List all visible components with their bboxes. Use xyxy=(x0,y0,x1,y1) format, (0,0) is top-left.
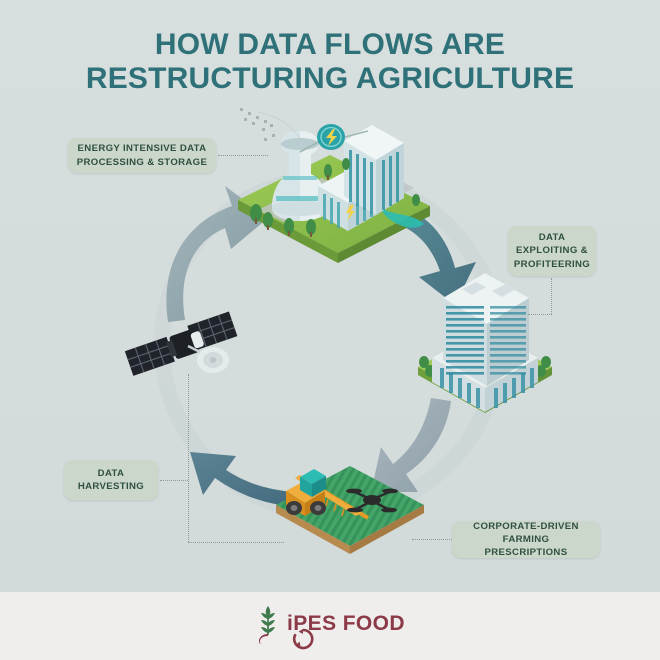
label-exploiting-line-3: PROFITEERING xyxy=(514,258,590,271)
wheat-icon xyxy=(255,604,281,644)
label-corporate-line-1: CORPORATE-DRIVEN xyxy=(460,520,592,533)
label-data-harvesting[interactable]: DATA HARVESTING xyxy=(64,460,158,500)
label-data-exploiting[interactable]: DATA EXPLOITING & PROFITEERING xyxy=(508,226,596,276)
recycle-circle-icon xyxy=(292,628,314,650)
label-exploiting-line-1: DATA xyxy=(514,231,590,244)
connector-exploiting xyxy=(551,278,552,314)
connector-corporate xyxy=(412,539,452,540)
connector-energy xyxy=(218,155,268,156)
connector-harvesting-v xyxy=(188,374,189,542)
recycle-arrow-icon xyxy=(259,634,268,644)
connector-exploiting-h xyxy=(528,314,552,315)
connector-harvesting-bottom xyxy=(188,542,284,543)
title-line-2: RESTRUCTURING AGRICULTURE xyxy=(0,62,660,96)
label-energy-line-1: ENERGY INTENSIVE DATA xyxy=(77,142,208,155)
connector-harvesting-h xyxy=(160,480,188,481)
label-energy-line-2: PROCESSING & STORAGE xyxy=(77,156,208,169)
page-title: HOW DATA FLOWS ARE RESTRUCTURING AGRICUL… xyxy=(0,28,660,95)
label-corporate-line-2: FARMING PRESCRIPTIONS xyxy=(460,533,592,559)
label-harvesting-line-1: DATA xyxy=(78,467,144,480)
title-line-1: HOW DATA FLOWS ARE xyxy=(155,28,505,61)
ipes-food-logo-mark xyxy=(255,604,281,644)
label-harvesting-line-2: HARVESTING xyxy=(78,480,144,493)
infographic-root: HOW DATA FLOWS ARE RESTRUCTURING AGRICUL… xyxy=(0,0,660,660)
label-exploiting-line-2: EXPLOITING & xyxy=(514,244,590,257)
label-energy-intensive-data[interactable]: ENERGY INTENSIVE DATA PROCESSING & STORA… xyxy=(68,138,216,173)
label-corporate-driven-farming[interactable]: CORPORATE-DRIVEN FARMING PRESCRIPTIONS xyxy=(452,521,600,558)
footer-logo[interactable]: iPES FOOD xyxy=(0,604,660,644)
